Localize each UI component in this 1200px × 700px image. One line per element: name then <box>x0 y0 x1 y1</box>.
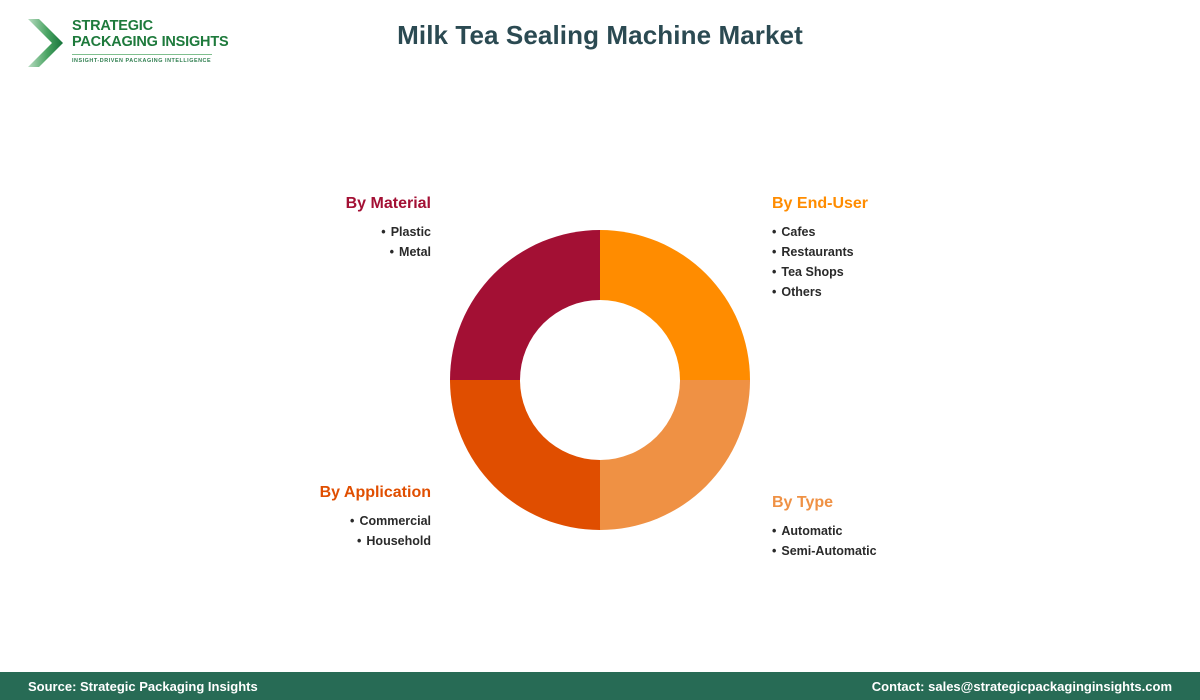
segment-list-application: Commercial Household <box>238 511 431 551</box>
segment-title-type: By Type <box>772 493 972 513</box>
list-item: Commercial <box>238 511 431 531</box>
segment-title-application: By Application <box>238 483 431 503</box>
segment-list-material: Plastic Metal <box>250 222 431 262</box>
segment-by-material: By Material Plastic Metal <box>250 194 431 262</box>
segment-title-end-user: By End-User <box>772 194 972 214</box>
logo-divider <box>72 54 212 55</box>
footer-source: Source: Strategic Packaging Insights <box>28 679 258 694</box>
list-item: Others <box>772 282 972 302</box>
donut-chart-svg <box>450 230 750 530</box>
page-title: Milk Tea Sealing Machine Market <box>0 20 1200 51</box>
footer-contact[interactable]: Contact: sales@strategicpackaginginsight… <box>872 679 1172 694</box>
donut-chart <box>450 230 750 530</box>
list-item: Metal <box>250 242 431 262</box>
market-infographic-page: STRATEGIC PACKAGING INSIGHTS INSIGHT-DRI… <box>0 0 1200 700</box>
segment-list-end-user: Cafes Restaurants Tea Shops Others <box>772 222 972 302</box>
donut-center-hole <box>520 300 680 460</box>
list-item: Semi-Automatic <box>772 541 972 561</box>
segment-list-type: Automatic Semi-Automatic <box>772 521 972 561</box>
list-item: Automatic <box>772 521 972 541</box>
footer-bar: Source: Strategic Packaging Insights Con… <box>0 672 1200 700</box>
list-item: Plastic <box>250 222 431 242</box>
segment-by-type: By Type Automatic Semi-Automatic <box>772 493 972 561</box>
list-item: Household <box>238 531 431 551</box>
segment-by-application: By Application Commercial Household <box>238 483 431 551</box>
segment-by-end-user: By End-User Cafes Restaurants Tea Shops … <box>772 194 972 302</box>
logo-tagline: INSIGHT-DRIVEN PACKAGING INTELLIGENCE <box>72 58 228 64</box>
list-item: Restaurants <box>772 242 972 262</box>
list-item: Cafes <box>772 222 972 242</box>
segment-title-material: By Material <box>250 194 431 214</box>
list-item: Tea Shops <box>772 262 972 282</box>
